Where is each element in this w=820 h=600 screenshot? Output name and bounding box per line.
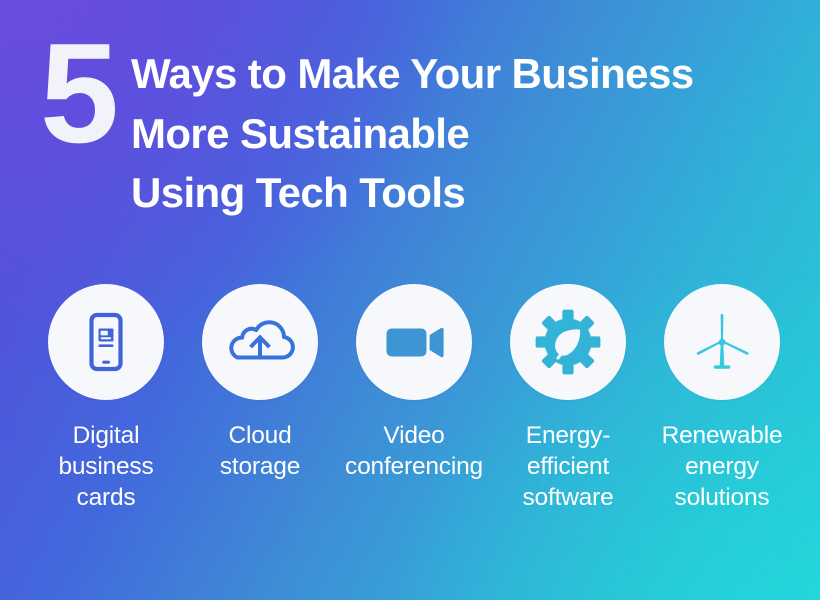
list-item-video-conferencing: Video conferencing bbox=[341, 284, 487, 483]
gear-leaf-icon bbox=[532, 306, 604, 378]
headline-line-3: Using Tech Tools bbox=[131, 163, 693, 223]
list-item-label: Video conferencing bbox=[345, 421, 483, 483]
infographic-canvas: 5 Ways to Make Your Business More Sustai… bbox=[0, 0, 820, 600]
icon-badge bbox=[48, 284, 164, 400]
list-item-cloud-storage: Cloud storage bbox=[187, 284, 333, 483]
list-item-energy-efficient-software: Energy- efficient software bbox=[495, 284, 641, 514]
list-item-label: Energy- efficient software bbox=[523, 421, 614, 514]
headline: 5 Ways to Make Your Business More Sustai… bbox=[40, 38, 810, 223]
icon-badge bbox=[356, 284, 472, 400]
cloud-upload-icon bbox=[224, 306, 296, 378]
list-item-label: Digital business cards bbox=[58, 421, 153, 514]
icon-badge bbox=[664, 284, 780, 400]
video-camera-icon bbox=[378, 306, 450, 378]
list-item-renewable-energy-solutions: Renewable energy solutions bbox=[649, 284, 795, 514]
headline-text-block: Ways to Make Your Business More Sustaina… bbox=[131, 38, 693, 223]
icon-badge bbox=[510, 284, 626, 400]
icon-badge bbox=[202, 284, 318, 400]
list-item-label: Renewable energy solutions bbox=[662, 421, 783, 514]
wind-turbine-icon bbox=[686, 306, 758, 378]
list-item-label: Cloud storage bbox=[220, 421, 300, 483]
tech-tools-list: Digital business cards Cloud storage bbox=[33, 284, 795, 514]
headline-line-2: More Sustainable bbox=[131, 104, 693, 164]
headline-number: 5 bbox=[40, 34, 115, 153]
list-item-digital-business-cards: Digital business cards bbox=[33, 284, 179, 514]
headline-line-1: Ways to Make Your Business bbox=[131, 44, 693, 104]
smartphone-contact-card-icon bbox=[73, 309, 139, 375]
